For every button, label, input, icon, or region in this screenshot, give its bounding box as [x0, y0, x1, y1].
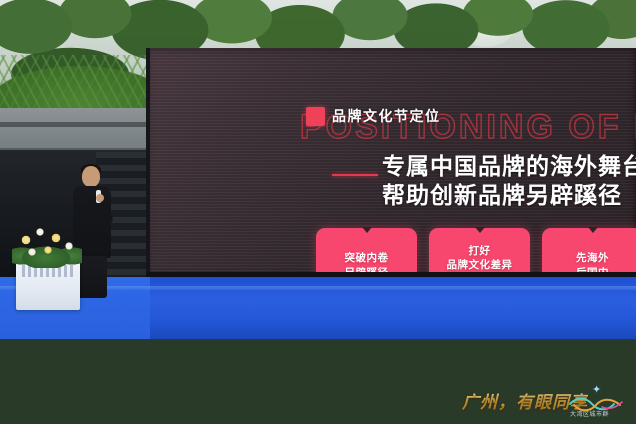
presenter-head — [82, 166, 100, 187]
watermark-sub-text: 大湾区城市群 — [570, 409, 609, 418]
headline-line-1: 专属中国品牌的海外舞台 — [382, 152, 636, 181]
pink-square-icon — [306, 107, 325, 126]
sparkle-icon: ✦ — [592, 385, 601, 396]
presenter-hand — [96, 194, 104, 202]
section-badge: 品牌文化节定位 — [306, 106, 441, 126]
section-badge-label: 品牌文化节定位 — [332, 106, 441, 126]
watermark-logo: ✦ 大湾区城市群 — [566, 386, 628, 418]
watermark: 广州，有眼同享 ✦ 大湾区城市群 — [462, 386, 636, 420]
flower-arrangement — [12, 222, 82, 268]
screenshot-root: POSITIONING OF FESTIVAL 品牌文化节定位 品牌节 BRAN… — [0, 0, 636, 424]
accent-rule — [332, 174, 378, 176]
headline-block: 专属中国品牌的海外舞台 帮助创新品牌另辟蹊径 — [382, 152, 636, 211]
headline-line-2: 帮助创新品牌另辟蹊径 — [382, 181, 636, 210]
led-screen: POSITIONING OF FESTIVAL 品牌文化节定位 品牌节 BRAN… — [146, 48, 636, 276]
led-screen-left-edge — [146, 48, 150, 276]
